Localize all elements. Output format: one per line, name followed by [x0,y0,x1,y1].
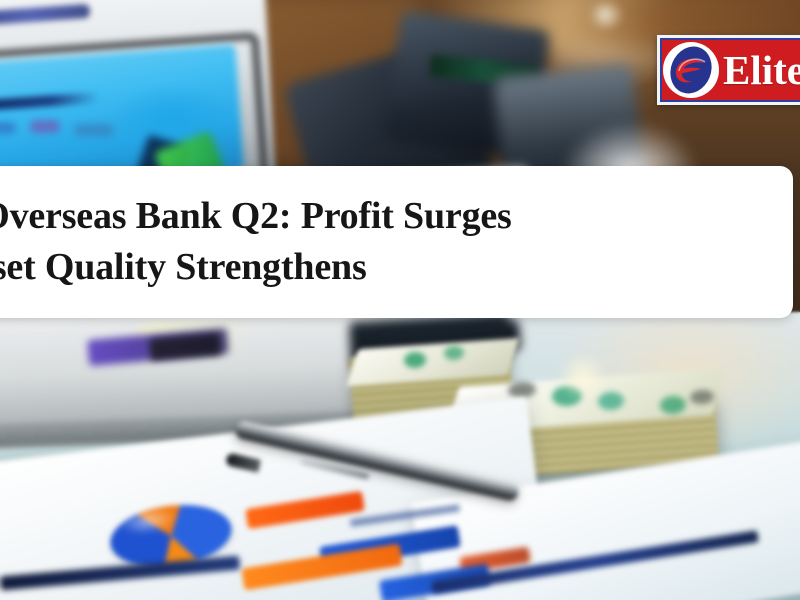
article-thumbnail: n Overseas Bank Q2: Profit Surges Asset … [0,0,800,600]
kiosk-screen-icon-3 [74,124,114,136]
elite-e-swoosh-icon [663,42,719,98]
headline-line-2: Asset Quality Strengthens [0,248,793,287]
kiosk-screen-icon-1 [0,122,16,134]
elite-logo-badge[interactable]: Elite [657,35,800,105]
ceiling-light-spot [588,2,622,28]
kiosk-screen-icon-2 [30,120,60,133]
headline-line-1: n Overseas Bank Q2: Profit Surges [0,197,793,236]
money-highlight-glow [556,356,610,398]
headline-banner: n Overseas Bank Q2: Profit Surges Asset … [0,166,793,318]
elite-logo-text: Elite [723,46,800,94]
